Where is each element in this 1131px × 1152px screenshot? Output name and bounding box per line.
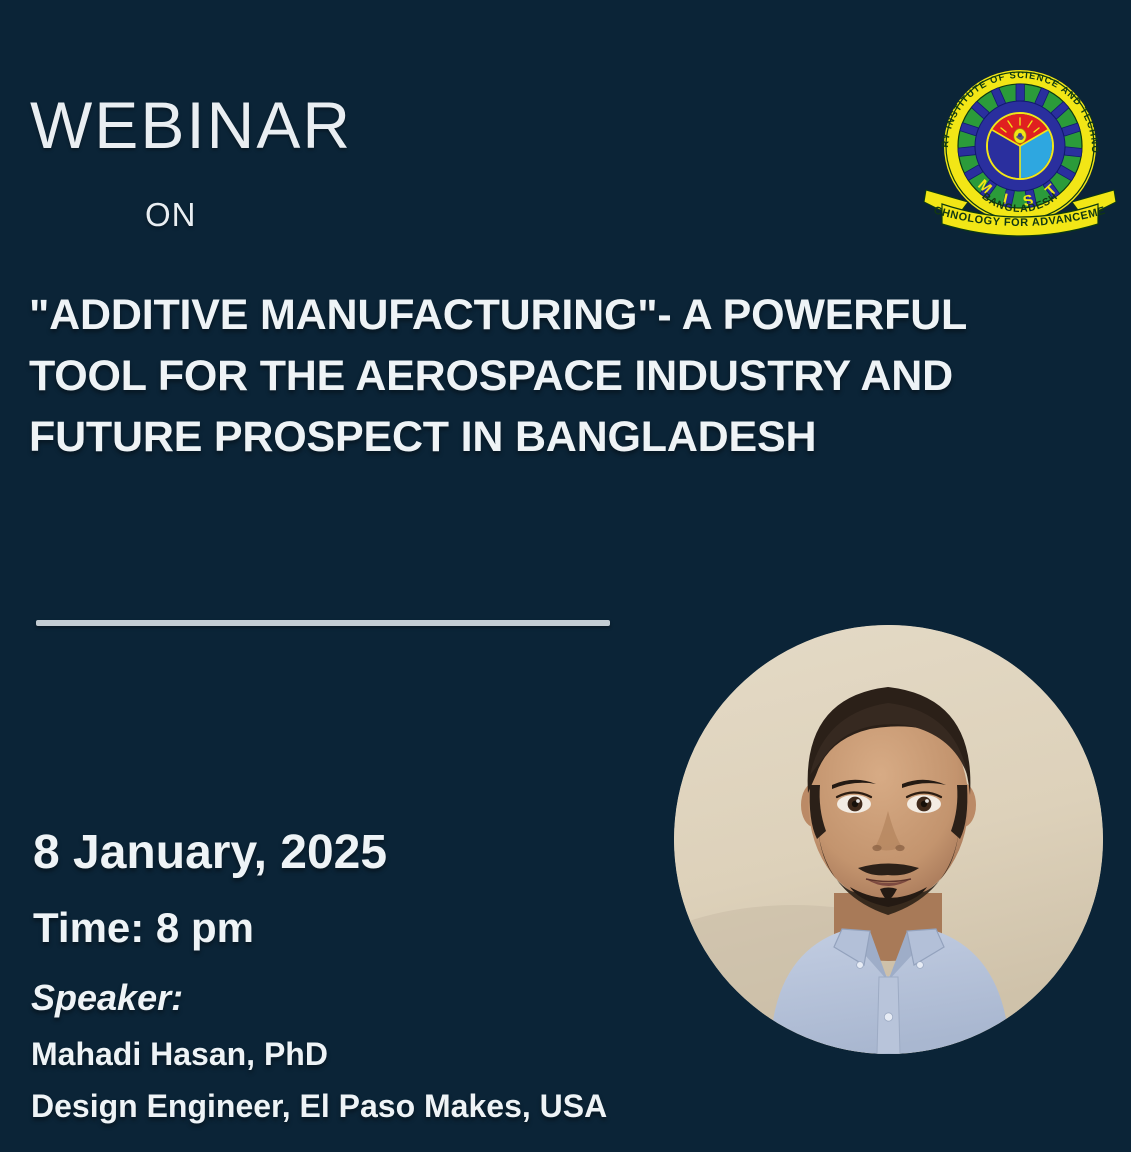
logo-crest: [986, 112, 1054, 180]
mist-logo: MILITARY INSTITUTE OF SCIENCE AND TECHNO…: [922, 42, 1118, 242]
title-line-1: "ADDITIVE MANUFACTURING"- A POWERFUL: [29, 285, 1094, 346]
speaker-label: Speaker:: [31, 980, 183, 1016]
event-date: 8 January, 2025: [33, 829, 387, 877]
title-line-3: FUTURE PROSPECT IN BANGLADESH: [29, 407, 1094, 468]
speaker-photo: [674, 625, 1103, 1054]
speaker-affiliation: Design Engineer, El Paso Makes, USA: [31, 1090, 607, 1122]
section-divider: [36, 620, 610, 626]
event-time: Time: 8 pm: [33, 907, 254, 949]
heading-connector: ON: [145, 198, 197, 231]
webinar-poster: MILITARY INSTITUTE OF SCIENCE AND TECHNO…: [0, 0, 1131, 1152]
webinar-topic-title: "ADDITIVE MANUFACTURING"- A POWERFUL TOO…: [29, 285, 1094, 468]
speaker-name: Mahadi Hasan, PhD: [31, 1038, 328, 1070]
title-line-2: TOOL FOR THE AEROSPACE INDUSTRY AND: [29, 346, 1094, 407]
page-title: WEBINAR: [30, 92, 352, 158]
